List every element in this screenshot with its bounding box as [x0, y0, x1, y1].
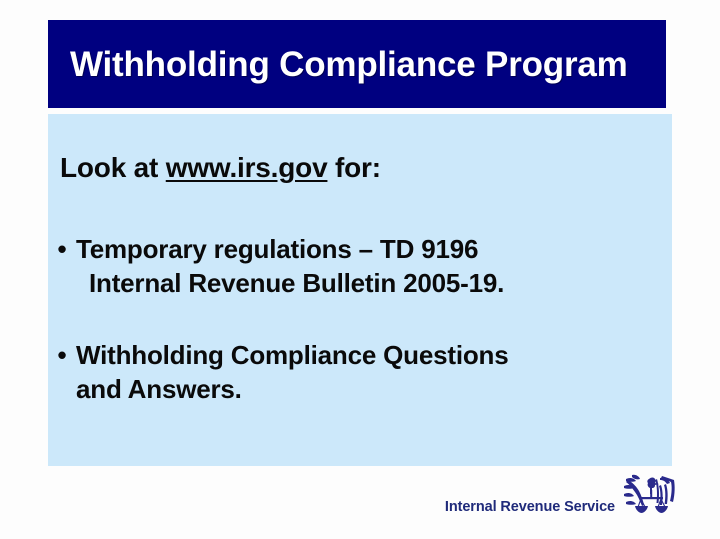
- slide-footer: Internal Revenue Service: [0, 470, 720, 532]
- list-item-text: Temporary regulations – TD 9196 Internal…: [76, 232, 504, 300]
- bullet-icon: •: [48, 232, 76, 266]
- bullet-list: • Temporary regulations – TD 9196 Intern…: [48, 232, 672, 444]
- list-item-line: and Answers.: [76, 372, 508, 406]
- bullet-icon: •: [48, 338, 76, 372]
- slide: Withholding Compliance Program Look at w…: [0, 0, 720, 539]
- list-item: • Withholding Compliance Questions and A…: [48, 338, 672, 406]
- irs-eagle-scales-logo: [622, 470, 678, 522]
- lead-prefix: Look at: [60, 152, 166, 183]
- list-item-line: Internal Revenue Bulletin 2005-19.: [76, 266, 504, 300]
- list-item-line: Withholding Compliance Questions: [76, 338, 508, 372]
- list-item-text: Withholding Compliance Questions and Ans…: [76, 338, 508, 406]
- irs-website-link[interactable]: www.irs.gov: [166, 152, 328, 183]
- slide-content-panel: Look at www.irs.gov for: • Temporary reg…: [48, 114, 672, 466]
- list-item: • Temporary regulations – TD 9196 Intern…: [48, 232, 672, 300]
- list-item-line: Temporary regulations – TD 9196: [76, 232, 504, 266]
- lead-suffix: for:: [327, 152, 380, 183]
- slide-title-bar: Withholding Compliance Program: [48, 20, 666, 108]
- lead-line: Look at www.irs.gov for:: [60, 152, 381, 184]
- agency-name: Internal Revenue Service: [445, 477, 615, 515]
- page-title: Withholding Compliance Program: [70, 47, 628, 82]
